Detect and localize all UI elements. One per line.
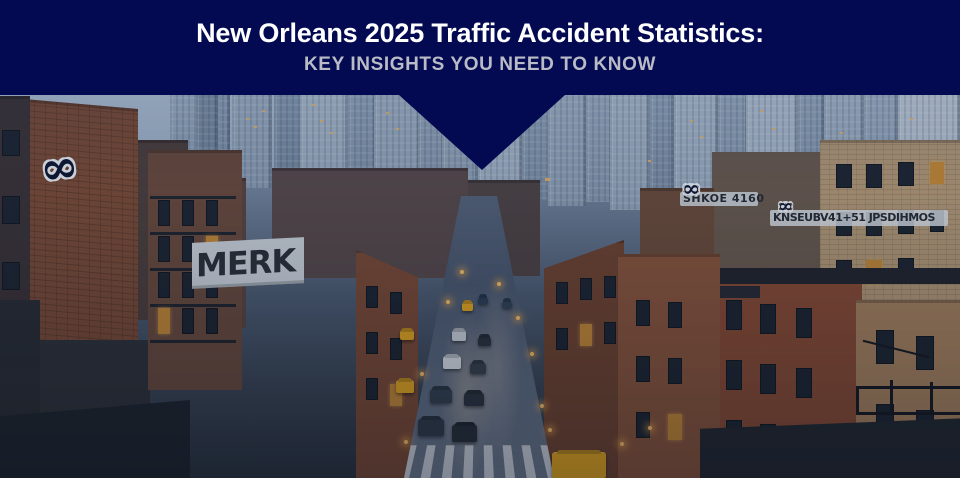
page-title: New Orleans 2025 Traffic Accident Statis… [196, 19, 764, 49]
crosswalk-stripes [399, 445, 558, 478]
right-cornice [712, 268, 960, 284]
page-subtitle: KEY INSIGHTS YOU NEED TO KNOW [304, 55, 656, 76]
graffiti-text-right-long: KNSEUBV41+51 JPSDIHMOS [773, 211, 935, 224]
hero-banner-image: ∞ MERK [0, 0, 960, 478]
graffiti-swirl-tag: ∞ [36, 138, 81, 197]
graffiti-swirl-tag-right: ∞ [682, 176, 700, 202]
graffiti-swirl-tag-right-2: ∞ [778, 196, 793, 217]
street-left-facade [356, 250, 418, 478]
graffiti-merk-text: MERK [196, 241, 295, 284]
